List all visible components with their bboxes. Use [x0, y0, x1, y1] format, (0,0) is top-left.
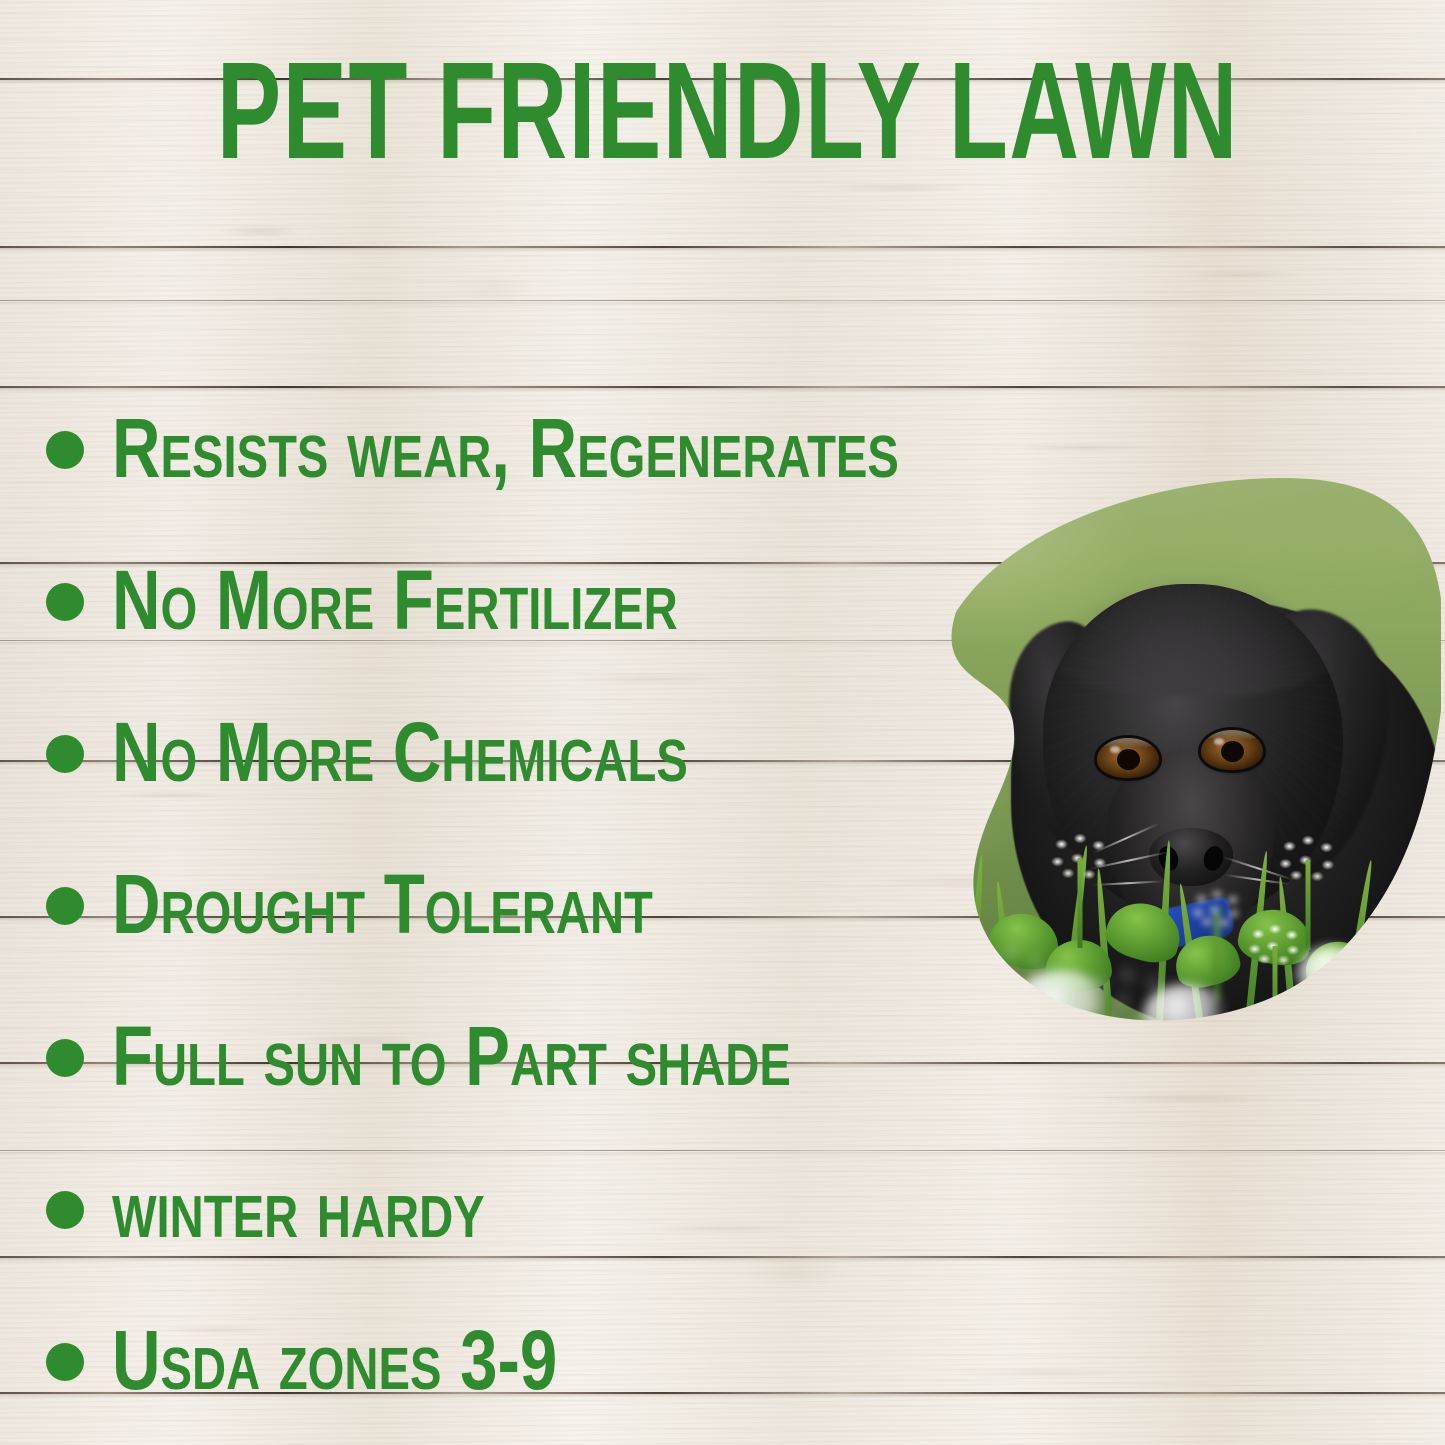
poster: Pet Friendly Lawn Resists wear, Regenera… [0, 0, 1445, 1445]
dog-eyelid-left [1097, 738, 1159, 748]
list-item-label: No More Chemicals [112, 710, 688, 794]
list-item: winter hardy [46, 1132, 1056, 1284]
clover-flower [1275, 830, 1341, 888]
list-item-label: No More Fertilizer [112, 558, 678, 642]
list-item-label: Usda zones 3-9 [112, 1318, 557, 1402]
bullet-dot-icon [46, 887, 84, 925]
plank-seam [0, 246, 1445, 248]
plank-seam [0, 300, 1445, 301]
clover-stem [1273, 946, 1278, 1030]
list-item-label: Drought Tolerant [112, 862, 653, 946]
bullet-dot-icon [46, 431, 84, 469]
bokeh-highlight [1297, 946, 1367, 1002]
clover-stem [1215, 910, 1220, 1000]
dog-eye-left [1097, 738, 1159, 778]
grass-blade [965, 854, 985, 1030]
clover-flower [1245, 920, 1305, 970]
dog-pupil-left [1117, 749, 1140, 770]
dog-pupil-right [1221, 741, 1244, 762]
clover-flower [1189, 886, 1245, 932]
list-item-label: Full sun to Part shade [112, 1014, 791, 1098]
bullet-dot-icon [46, 1343, 84, 1381]
dog-photo [893, 472, 1441, 1030]
dog-photo-clip [893, 472, 1441, 1030]
list-item-label: Resists wear, Regenerates [112, 406, 899, 490]
clover-leaf [1101, 895, 1188, 969]
clover-stem [1306, 860, 1311, 950]
clover-stem [1078, 858, 1083, 948]
bullet-dot-icon [46, 1039, 84, 1077]
list-item-label: winter hardy [112, 1166, 485, 1250]
dog-eye-right [1201, 730, 1263, 770]
bullet-dot-icon [46, 583, 84, 621]
dog-eyelid-right [1201, 730, 1263, 740]
bullet-dot-icon [46, 735, 84, 773]
list-item: Usda zones 3-9 [46, 1284, 1056, 1436]
grass-blade [910, 891, 940, 1030]
clover-leaf [923, 924, 997, 991]
bullet-dot-icon [46, 1191, 84, 1229]
page-title: Pet Friendly Lawn [217, 42, 1229, 180]
clover-flower [1047, 828, 1113, 886]
